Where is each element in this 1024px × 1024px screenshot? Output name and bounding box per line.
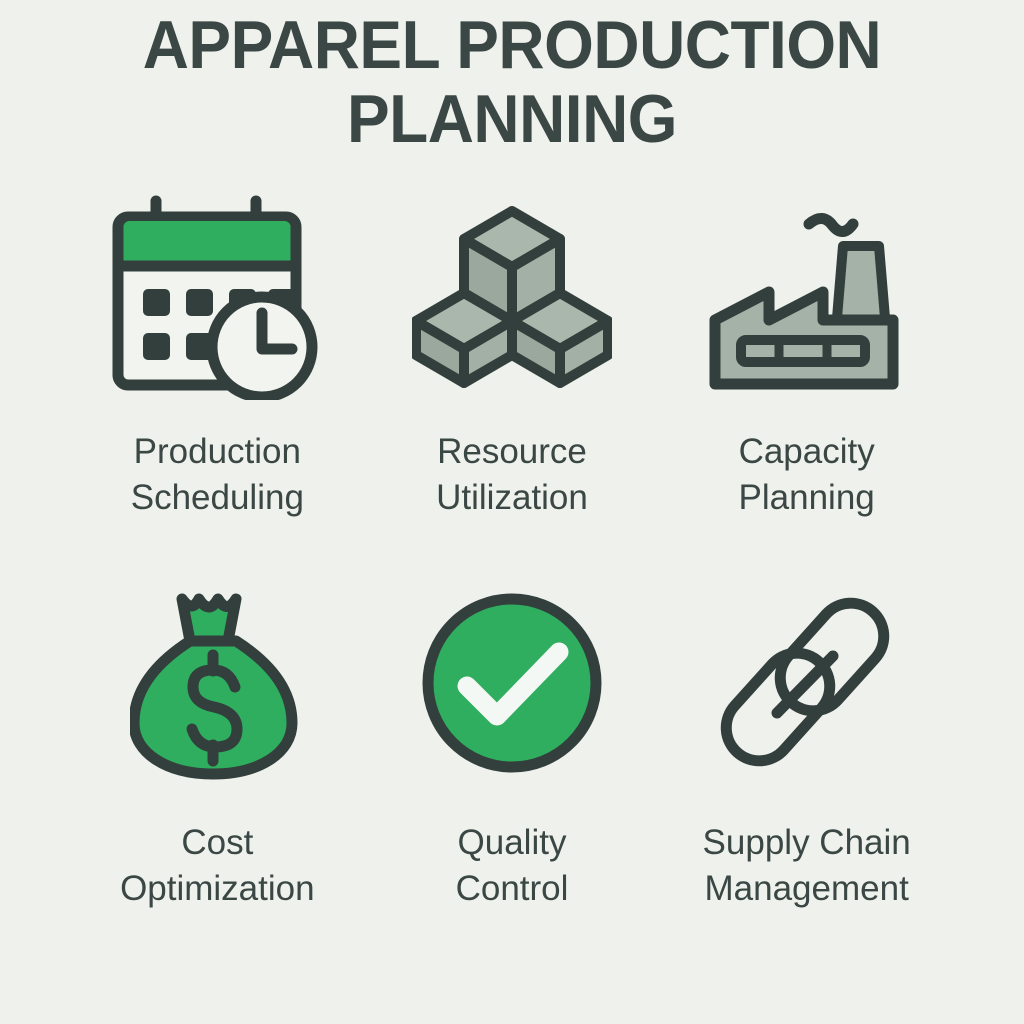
page-title-line-2: PLANNING bbox=[87, 82, 937, 156]
feature-label-cost-optimization: Cost Optimization bbox=[120, 820, 315, 912]
feature-label-resource-utilization: Resource Utilization bbox=[436, 429, 588, 521]
feature-item-capacity-planning[interactable]: Capacity Planning bbox=[659, 190, 954, 575]
infographic-poster: APPAREL PRODUCTION PLANNING bbox=[0, 0, 1024, 1024]
stacked-cubes-icon bbox=[397, 190, 627, 405]
feature-item-production-scheduling[interactable]: Production Scheduling bbox=[70, 190, 365, 575]
money-bag-icon bbox=[102, 575, 332, 790]
feature-grid: Production Scheduling bbox=[70, 190, 954, 960]
feature-item-supply-chain-management[interactable]: Supply Chain Management bbox=[659, 575, 954, 960]
page-title: APPAREL PRODUCTION PLANNING bbox=[0, 8, 1024, 156]
chain-link-icon bbox=[692, 575, 922, 790]
feature-label-quality-control: Quality Control bbox=[456, 820, 569, 912]
calendar-clock-icon bbox=[102, 190, 332, 405]
factory-icon bbox=[692, 190, 922, 405]
feature-label-supply-chain-management: Supply Chain Management bbox=[703, 820, 911, 912]
feature-label-production-scheduling: Production Scheduling bbox=[131, 429, 304, 521]
feature-item-resource-utilization[interactable]: Resource Utilization bbox=[365, 190, 660, 575]
feature-item-quality-control[interactable]: Quality Control bbox=[365, 575, 660, 960]
check-circle-icon bbox=[397, 575, 627, 790]
feature-item-cost-optimization[interactable]: Cost Optimization bbox=[70, 575, 365, 960]
page-title-line-1: APPAREL PRODUCTION bbox=[87, 8, 937, 82]
feature-label-capacity-planning: Capacity Planning bbox=[739, 429, 875, 521]
